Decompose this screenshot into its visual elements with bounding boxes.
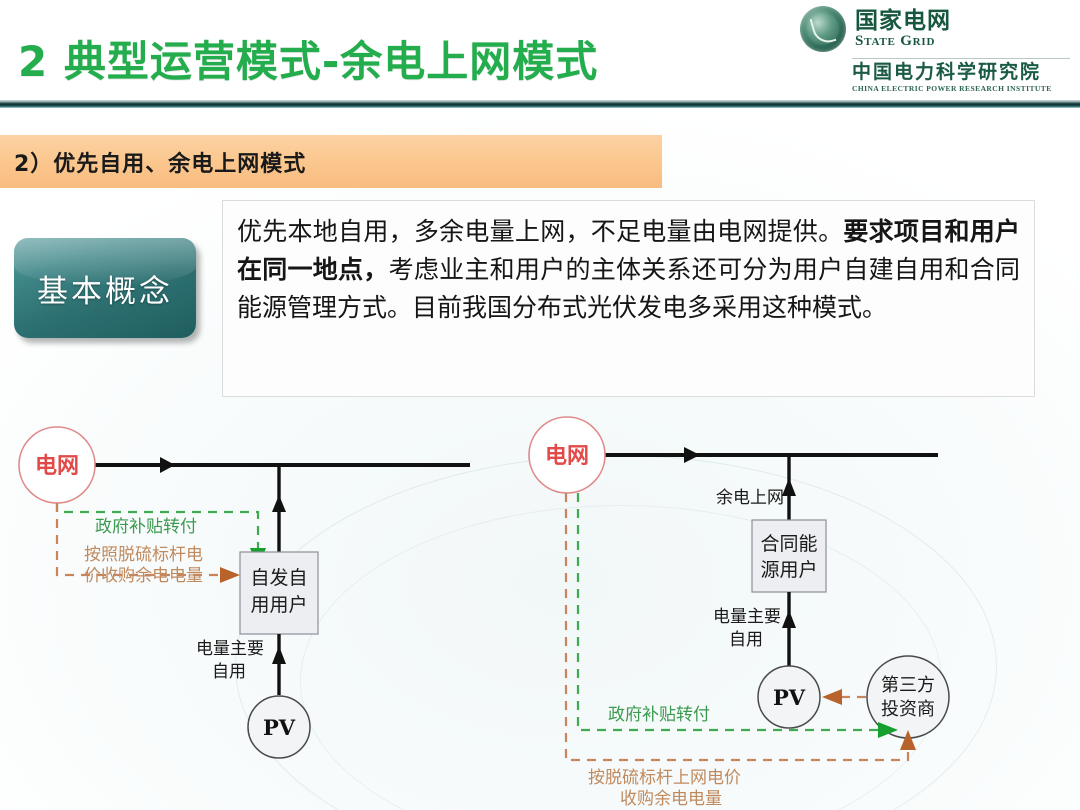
left-pv-node-label: PV — [263, 715, 296, 740]
slide-header: 2 典型运营模式-余电上网模式 国家电网 State Grid 中国电力科学研究… — [0, 0, 1080, 112]
page-title: 2 典型运营模式-余电上网模式 — [18, 28, 598, 89]
state-grid-emblem-icon — [800, 6, 846, 52]
description-part1: 优先本地自用，多余电量上网，不足电量由电网提供。 — [237, 217, 843, 246]
concept-badge-label: 基本概念 — [37, 266, 173, 311]
left-purchase-label-line2: 价收购余电电量 — [84, 566, 203, 586]
left-purchase-label-line1: 按照脱硫标杆电 — [84, 545, 203, 565]
logo-institute-en: CHINA ELECTRIC POWER RESEARCH INSTITUTE — [852, 84, 1052, 93]
right-grid-node-label: 电网 — [545, 444, 589, 469]
left-user-box-line1: 自发自 — [250, 567, 307, 589]
left-user-box — [240, 552, 318, 634]
right-emc-box-line1: 合同能 — [760, 533, 817, 555]
header-separator-bar — [0, 100, 1080, 108]
left-pv-to-box-arrow — [272, 646, 286, 664]
right-purchase-label-line2: 收购余电电量 — [620, 789, 722, 809]
left-box-to-bus-arrow — [272, 495, 286, 512]
logo-block: 国家电网 State Grid 中国电力科学研究院 CHINA ELECTRIC… — [800, 6, 1072, 98]
right-selfuse-label-line2: 自用 — [729, 630, 763, 650]
right-investor-line2: 投资商 — [881, 699, 935, 720]
left-purchase-arrow — [220, 567, 240, 583]
subsection-banner: 2）优先自用、余电上网模式 — [0, 135, 662, 188]
right-grid-bus-arrow — [684, 447, 700, 463]
diagram-area: 电网 政府补贴转付 按照脱硫标杆电 价收购余电电量 自发自 用用户 电量主要 自… — [0, 400, 1080, 810]
logo-divider — [852, 58, 1070, 59]
logo-company-cn: 国家电网 — [855, 9, 951, 33]
right-pv-node-label: PV — [773, 685, 806, 710]
concept-badge: 基本概念 — [14, 238, 196, 338]
right-feedin-arrow — [782, 478, 796, 496]
left-grid-bus-arrow — [160, 457, 175, 473]
subsection-banner-label: 2）优先自用、余电上网模式 — [0, 146, 306, 178]
right-feedin-label: 余电上网 — [716, 488, 784, 508]
left-subsidy-label: 政府补贴转付 — [95, 517, 197, 537]
logo-company-en: State Grid — [855, 33, 951, 50]
logo-institute-cn: 中国电力科学研究院 — [852, 62, 1052, 84]
right-investor-to-pv-arrow — [822, 689, 842, 705]
right-emc-box — [752, 520, 826, 592]
cepri-logo: 中国电力科学研究院 CHINA ELECTRIC POWER RESEARCH … — [852, 62, 1052, 93]
description-box: 优先本地自用，多余电量上网，不足电量由电网提供。要求项目和用户在同一地点，考虑业… — [222, 200, 1035, 397]
left-user-box-line2: 用用户 — [250, 594, 307, 616]
left-selfuse-label-line1: 电量主要 — [196, 639, 264, 659]
slide-canvas: 2 典型运营模式-余电上网模式 国家电网 State Grid 中国电力科学研究… — [0, 0, 1080, 810]
right-subsidy-label: 政府补贴转付 — [608, 705, 710, 725]
state-grid-logo: 国家电网 State Grid — [800, 6, 951, 52]
right-emc-box-line2: 源用户 — [760, 559, 817, 581]
left-selfuse-label-line2: 自用 — [212, 662, 246, 682]
right-investor-line1: 第三方 — [881, 675, 935, 696]
right-pv-to-box-arrow — [782, 610, 796, 628]
right-purchase-label-line1: 按脱硫标杆上网电价 — [588, 768, 741, 788]
right-selfuse-label-line1: 电量主要 — [713, 607, 781, 627]
description-text: 优先本地自用，多余电量上网，不足电量由电网提供。要求项目和用户在同一地点，考虑业… — [223, 201, 1034, 327]
left-grid-node-label: 电网 — [35, 454, 79, 479]
